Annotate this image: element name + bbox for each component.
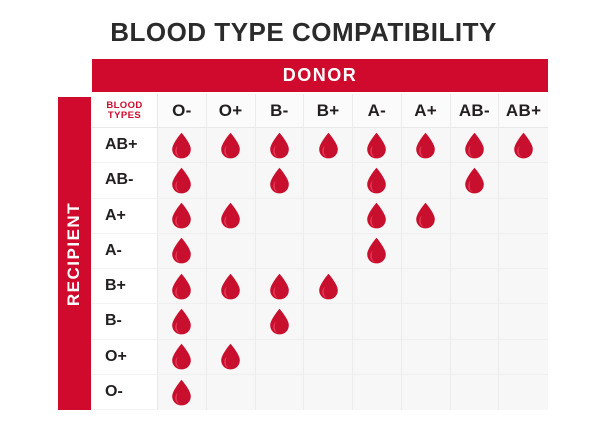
blood-drop-icon [170, 343, 193, 370]
column-header-bneg: B- [256, 94, 305, 128]
column-header-apos: A+ [402, 94, 451, 128]
empty-cell [317, 308, 340, 335]
matrix-cell [499, 340, 548, 375]
column-header-abneg: AB- [451, 94, 500, 128]
empty-cell [414, 379, 437, 406]
matrix-cell [499, 304, 548, 339]
empty-cell [317, 202, 340, 229]
blood-drop-icon [219, 343, 242, 370]
matrix-cell [158, 128, 207, 163]
blood-type-compatibility-infographic: BLOOD TYPE COMPATIBILITY DONOR RECIPIENT… [0, 0, 607, 425]
row-header-opos: O+ [92, 340, 158, 375]
empty-cell [268, 343, 291, 370]
matrix-cell [256, 234, 305, 269]
empty-cell [219, 167, 242, 194]
blood-drop-icon [414, 202, 437, 229]
empty-cell [219, 379, 242, 406]
matrix-cell [499, 234, 548, 269]
matrix-cell [207, 128, 256, 163]
matrix-cell [402, 304, 451, 339]
matrix-cell [158, 304, 207, 339]
matrix-cell [353, 234, 402, 269]
empty-cell [512, 379, 535, 406]
blood-drop-icon [170, 237, 193, 264]
matrix-cell [451, 269, 500, 304]
column-header-oneg: O- [158, 94, 207, 128]
matrix-cell [256, 304, 305, 339]
empty-cell [219, 237, 242, 264]
matrix-cell [402, 163, 451, 198]
empty-cell [317, 167, 340, 194]
empty-cell [463, 237, 486, 264]
row-header-bneg: B- [92, 304, 158, 339]
matrix-cell [304, 304, 353, 339]
matrix-cell [353, 128, 402, 163]
empty-cell [512, 167, 535, 194]
matrix-cell [207, 199, 256, 234]
recipient-axis-header: RECIPIENT [58, 97, 91, 410]
matrix-cell [402, 375, 451, 410]
matrix-cell [158, 163, 207, 198]
empty-cell [365, 379, 388, 406]
empty-cell [414, 308, 437, 335]
empty-cell [317, 237, 340, 264]
blood-drop-icon [170, 132, 193, 159]
blood-drop-icon [365, 202, 388, 229]
matrix-cell [353, 269, 402, 304]
blood-drop-icon [170, 167, 193, 194]
matrix-cell [207, 269, 256, 304]
page-title: BLOOD TYPE COMPATIBILITY [0, 17, 607, 48]
blood-drop-icon [414, 132, 437, 159]
matrix-cell [402, 234, 451, 269]
empty-cell [317, 379, 340, 406]
matrix-cell [207, 304, 256, 339]
donor-axis-label: DONOR [283, 65, 358, 86]
matrix-cell [304, 199, 353, 234]
matrix-cell [451, 163, 500, 198]
matrix-cell [353, 304, 402, 339]
matrix-cell [353, 375, 402, 410]
empty-cell [512, 202, 535, 229]
blood-drop-icon [268, 132, 291, 159]
matrix-cell [451, 340, 500, 375]
matrix-cell [207, 375, 256, 410]
matrix-cell [499, 269, 548, 304]
row-header-abpos: AB+ [92, 128, 158, 163]
matrix-cell [207, 163, 256, 198]
matrix-cell [353, 340, 402, 375]
blood-drop-icon [463, 167, 486, 194]
blood-drop-icon [365, 167, 388, 194]
empty-cell [365, 343, 388, 370]
empty-cell [463, 273, 486, 300]
blood-drop-icon [317, 132, 340, 159]
empty-cell [317, 343, 340, 370]
matrix-cell [304, 340, 353, 375]
blood-drop-icon [268, 167, 291, 194]
matrix-cell [256, 375, 305, 410]
matrix-corner-blood-types: BLOODTYPES [92, 94, 158, 128]
empty-cell [268, 379, 291, 406]
empty-cell [512, 237, 535, 264]
empty-cell [414, 343, 437, 370]
empty-cell [268, 237, 291, 264]
blood-drop-icon [170, 202, 193, 229]
matrix-cell [499, 199, 548, 234]
row-header-apos: A+ [92, 199, 158, 234]
corner-label-line2: TYPES [108, 111, 141, 121]
column-header-abpos: AB+ [499, 94, 548, 128]
matrix-cell [353, 163, 402, 198]
blood-drop-icon [170, 308, 193, 335]
blood-drop-icon [512, 132, 535, 159]
empty-cell [219, 308, 242, 335]
blood-drop-icon [170, 379, 193, 406]
blood-drop-icon [219, 273, 242, 300]
matrix-cell [256, 128, 305, 163]
matrix-cell [256, 199, 305, 234]
row-header-aneg: A- [92, 234, 158, 269]
blood-drop-icon [219, 132, 242, 159]
matrix-cell [158, 340, 207, 375]
empty-cell [512, 343, 535, 370]
blood-drop-icon [170, 273, 193, 300]
matrix-cell [451, 234, 500, 269]
matrix-cell [402, 128, 451, 163]
blood-drop-icon [317, 273, 340, 300]
matrix-cell [158, 269, 207, 304]
matrix-cell [402, 340, 451, 375]
empty-cell [414, 167, 437, 194]
matrix-cell [207, 340, 256, 375]
matrix-cell [402, 269, 451, 304]
row-header-oneg: O- [92, 375, 158, 410]
matrix-cell [402, 199, 451, 234]
matrix-cell [256, 163, 305, 198]
column-header-aneg: A- [353, 94, 402, 128]
matrix-cell [304, 163, 353, 198]
empty-cell [365, 273, 388, 300]
blood-drop-icon [365, 237, 388, 264]
matrix-cell [158, 375, 207, 410]
matrix-cell [207, 234, 256, 269]
matrix-cell [304, 128, 353, 163]
matrix-cell [304, 234, 353, 269]
empty-cell [512, 273, 535, 300]
matrix-cell [451, 375, 500, 410]
corner-label-line1: BLOOD [106, 101, 142, 111]
matrix-cell [158, 234, 207, 269]
empty-cell [463, 308, 486, 335]
column-header-opos: O+ [207, 94, 256, 128]
empty-cell [512, 308, 535, 335]
matrix-cell [256, 269, 305, 304]
matrix-cell [353, 199, 402, 234]
matrix-cell [304, 375, 353, 410]
matrix-cell [499, 128, 548, 163]
blood-drop-icon [268, 273, 291, 300]
matrix-cell [256, 340, 305, 375]
blood-drop-icon [365, 132, 388, 159]
blood-drop-icon [268, 308, 291, 335]
matrix-cell [499, 375, 548, 410]
matrix-cell [499, 163, 548, 198]
matrix-cell [451, 199, 500, 234]
matrix-cell [451, 304, 500, 339]
empty-cell [414, 273, 437, 300]
donor-axis-header: DONOR [92, 59, 548, 92]
matrix-cell [158, 199, 207, 234]
empty-cell [463, 379, 486, 406]
empty-cell [463, 343, 486, 370]
matrix-cell [304, 269, 353, 304]
column-header-bpos: B+ [304, 94, 353, 128]
matrix-cell [451, 128, 500, 163]
empty-cell [365, 308, 388, 335]
row-header-bpos: B+ [92, 269, 158, 304]
row-header-abneg: AB- [92, 163, 158, 198]
blood-drop-icon [219, 202, 242, 229]
empty-cell [268, 202, 291, 229]
recipient-axis-label: RECIPIENT [65, 201, 85, 305]
compatibility-matrix: BLOODTYPESO-O+B-B+A-A+AB-AB+AB+AB-A+A-B+… [92, 94, 548, 410]
empty-cell [463, 202, 486, 229]
empty-cell [414, 237, 437, 264]
blood-drop-icon [463, 132, 486, 159]
